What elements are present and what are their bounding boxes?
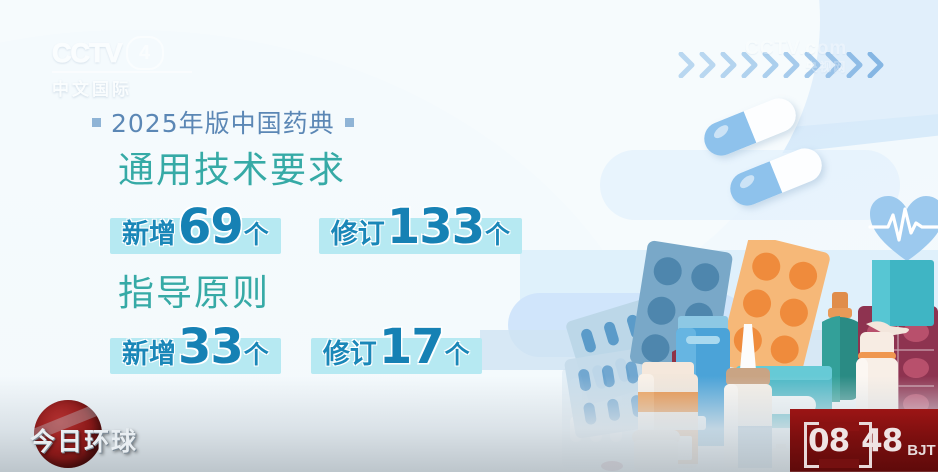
clock-timezone: BJT: [907, 442, 935, 459]
stat-badge-added-2: 新增 33 个: [110, 320, 281, 377]
clock-widget: 08 48 BJT: [790, 409, 938, 472]
stat-number: 69: [178, 205, 243, 251]
watermark-main: CCTV.com: [745, 38, 847, 59]
stat-unit: 个: [244, 215, 269, 251]
stat-number: 133: [387, 205, 484, 251]
cctv-logo-divider: [52, 71, 192, 73]
cctv-channel-number: 4: [126, 36, 164, 70]
stat-row-1: 新增 69 个 修订 133 个: [110, 200, 522, 257]
headline-row: 2025年版中国药典: [92, 104, 354, 140]
stat-label: 修订: [331, 212, 385, 251]
stat-number: 33: [178, 325, 243, 371]
clock-hours: 08: [808, 423, 849, 459]
program-name: 今日环球: [30, 422, 138, 458]
stat-badge-revised-2: 修订 17 个: [311, 320, 482, 377]
stat-unit: 个: [244, 335, 269, 371]
stat-badge-added-1: 新增 69 个: [110, 200, 281, 257]
cctv-com-watermark: CCTV.com 央视网: [745, 38, 847, 75]
stat-unit: 个: [485, 215, 510, 251]
stat-label: 新增: [122, 332, 176, 371]
stat-label: 新增: [122, 212, 176, 251]
stat-unit: 个: [445, 335, 470, 371]
stat-badge-revised-1: 修订 133 个: [319, 200, 522, 257]
square-bullet-right-icon: [345, 118, 354, 127]
cctv-logo-text: CCTV: [52, 38, 122, 69]
stat-number: 17: [379, 325, 444, 371]
program-logo: 今日环球: [8, 398, 158, 470]
cctv-channel-logo: CCTV 4 中文国际: [52, 36, 192, 94]
orange-blister-pack: [717, 240, 831, 384]
broadcast-screen: CCTV.com 央视网 CCTV 4 中文国际: [0, 0, 938, 472]
square-bullet-left-icon: [92, 118, 101, 127]
section-title-2: 指导原则: [118, 264, 270, 316]
clock-minutes: 48: [861, 423, 902, 459]
headline-text: 2025年版中国药典: [111, 104, 335, 140]
watermark-sub: 央视网: [745, 58, 847, 75]
section-title-1: 通用技术要求: [118, 141, 346, 193]
cctv-logo-subtitle: 中文国际: [52, 75, 192, 100]
stat-label: 修订: [323, 332, 377, 371]
teal-tall-box: [872, 260, 934, 326]
stat-row-2: 新增 33 个 修订 17 个: [110, 320, 482, 377]
